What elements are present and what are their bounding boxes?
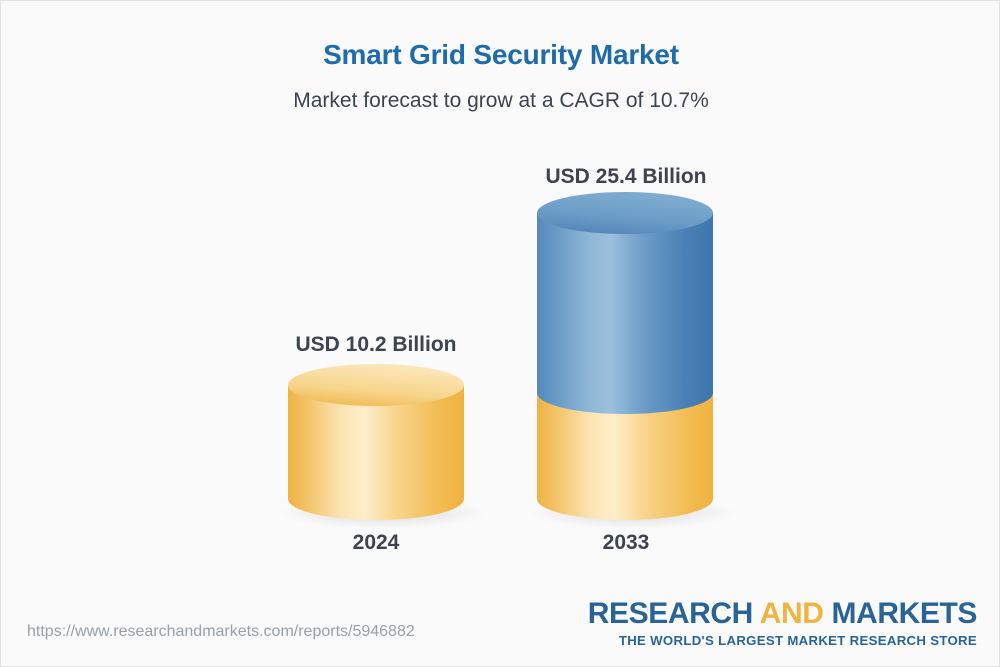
- brand-wordmark: RESEARCH AND MARKETS: [588, 599, 977, 629]
- value-label-2033: USD 25.4 Billion: [536, 165, 716, 189]
- brand-logo: RESEARCH AND MARKETS THE WORLD'S LARGEST…: [588, 599, 977, 647]
- brand-tagline: THE WORLD'S LARGEST MARKET RESEARCH STOR…: [588, 634, 977, 647]
- brand-word-markets: MARKETS: [831, 597, 977, 630]
- category-label-2024: 2024: [286, 531, 466, 555]
- bar-2033-top: [537, 192, 713, 234]
- bar-2024: [279, 364, 487, 529]
- category-label-2033: 2033: [536, 531, 716, 555]
- bar-2024-top: [288, 364, 464, 406]
- bar-2033-blue-segment: [537, 213, 713, 414]
- brand-word-research: RESEARCH: [588, 597, 760, 630]
- report-url[interactable]: https://www.researchandmarkets.com/repor…: [27, 623, 415, 641]
- infographic-canvas: Smart Grid Security Market Market foreca…: [0, 0, 1000, 667]
- value-label-2024: USD 10.2 Billion: [286, 333, 466, 357]
- cylinder-bar-chart: [1, 1, 1000, 667]
- brand-word-and: AND: [760, 597, 832, 630]
- bar-2033: [529, 192, 737, 529]
